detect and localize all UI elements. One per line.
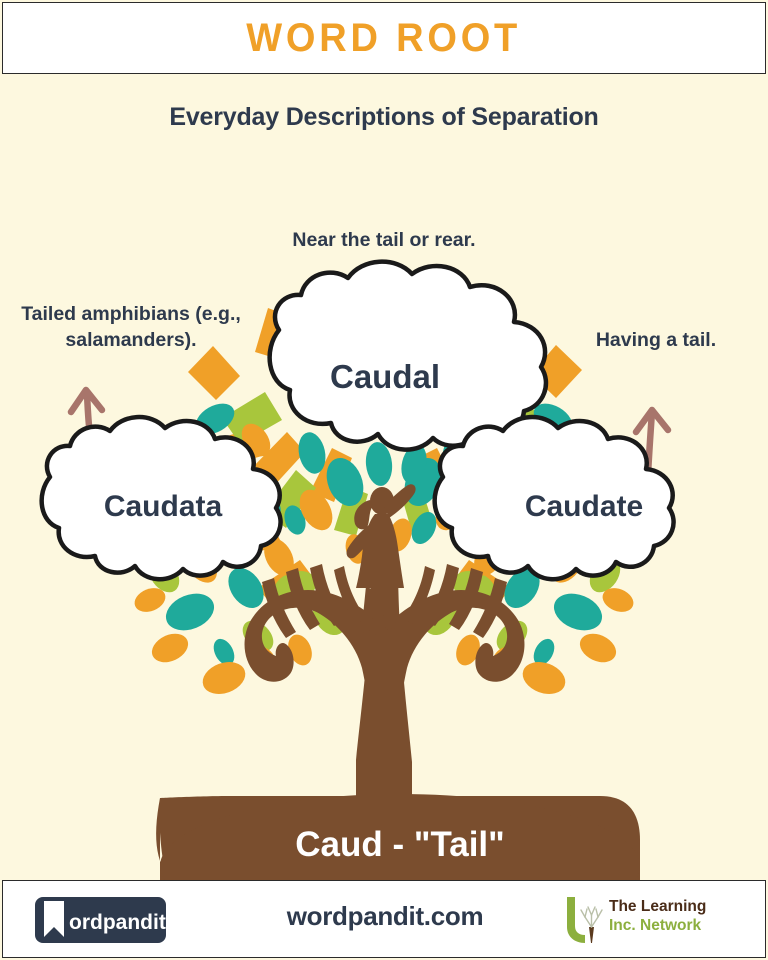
cloud-label-caudal: Caudal	[330, 358, 440, 395]
cloud-label-caudata: Caudata	[104, 490, 223, 523]
tln-text-block: The Learning Inc. Network	[609, 897, 706, 936]
cloud-label-caudate: Caudate	[525, 490, 643, 523]
cloud-caudal[interactable]: Caudal	[270, 262, 546, 450]
the-learning-network-logo[interactable]: The Learning Inc. Network	[563, 893, 743, 947]
cloud-caudate[interactable]: Caudate	[435, 417, 674, 579]
description-right: Having a tail.	[548, 328, 764, 354]
description-left: Tailed amphibians (e.g., salamanders).	[6, 302, 256, 353]
description-top: Near the tail or rear.	[224, 228, 544, 254]
tln-line2: Inc. Network	[609, 916, 706, 935]
word-root-tree-illustration: Caudal Caudata Caudate Caud - "Tail"	[0, 0, 768, 884]
tln-line1: The Learning	[609, 897, 706, 916]
root-base-mound: Caud - "Tail"	[156, 794, 640, 884]
infographic-canvas: WORD ROOT Everyday Descriptions of Separ…	[0, 0, 768, 960]
tln-tree-icon	[563, 893, 607, 947]
footer-bar: ordpandit wordpandit.com The Learning	[2, 880, 766, 958]
root-base-label: Caud - "Tail"	[295, 825, 505, 864]
